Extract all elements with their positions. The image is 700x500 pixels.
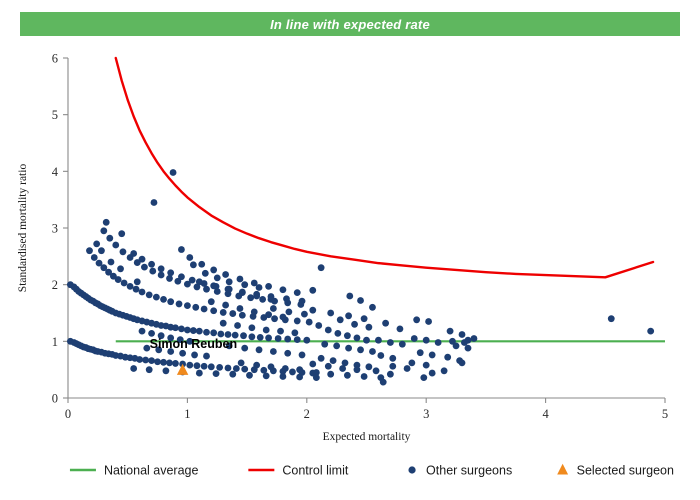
data-point-other-surgeon[interactable] <box>268 296 275 303</box>
data-point-other-surgeon[interactable] <box>210 307 217 314</box>
data-point-other-surgeon[interactable] <box>160 296 167 303</box>
data-point-other-surgeon[interactable] <box>257 334 264 341</box>
data-point-other-surgeon[interactable] <box>142 357 149 364</box>
data-point-other-surgeon[interactable] <box>334 330 341 337</box>
data-point-other-surgeon[interactable] <box>240 332 247 339</box>
data-point-other-surgeon[interactable] <box>420 374 427 381</box>
data-point-other-surgeon[interactable] <box>189 277 196 284</box>
data-point-other-surgeon[interactable] <box>148 330 155 337</box>
y-tick-label: 0 <box>52 392 58 406</box>
data-point-other-surgeon[interactable] <box>220 309 227 316</box>
data-point-other-surgeon[interactable] <box>239 289 246 296</box>
data-point-other-surgeon[interactable] <box>149 268 156 275</box>
data-point-other-surgeon[interactable] <box>321 341 328 348</box>
data-point-other-surgeon[interactable] <box>337 316 344 323</box>
legend-item-other-surgeons[interactable]: Other surgeons <box>408 464 512 478</box>
data-point-other-surgeon[interactable] <box>299 352 306 359</box>
data-point-other-surgeon[interactable] <box>284 350 291 357</box>
data-point-other-surgeon[interactable] <box>172 360 179 367</box>
data-point-other-surgeon[interactable] <box>441 367 448 374</box>
data-point-other-surgeon[interactable] <box>184 302 191 309</box>
data-point-other-surgeon[interactable] <box>225 365 232 372</box>
data-point-other-surgeon[interactable] <box>220 320 227 327</box>
data-point-other-surgeon[interactable] <box>253 293 260 300</box>
data-point-other-surgeon[interactable] <box>121 280 128 287</box>
data-point-other-surgeon[interactable] <box>153 294 160 301</box>
legend-item-control-limit[interactable]: Control limit <box>248 464 349 478</box>
y-tick-label: 2 <box>52 278 58 292</box>
data-point-other-surgeon[interactable] <box>375 337 382 344</box>
y-tick-label: 6 <box>52 52 58 66</box>
data-point-other-surgeon[interactable] <box>241 281 248 288</box>
data-point-other-surgeon[interactable] <box>134 278 141 285</box>
data-point-other-surgeon[interactable] <box>354 335 361 342</box>
data-point-other-surgeon[interactable] <box>282 365 289 372</box>
data-point-other-surgeon[interactable] <box>277 328 284 335</box>
data-point-other-surgeon[interactable] <box>471 335 478 342</box>
data-point-other-surgeon[interactable] <box>361 373 368 380</box>
data-point-other-surgeon[interactable] <box>120 248 127 255</box>
data-point-other-surgeon[interactable] <box>344 372 351 379</box>
data-point-other-surgeon[interactable] <box>299 298 306 305</box>
data-point-other-surgeon[interactable] <box>148 261 155 268</box>
data-point-other-surgeon[interactable] <box>184 327 191 334</box>
legend-item-selected-surgeon[interactable]: Selected surgeon <box>557 464 674 478</box>
data-point-other-surgeon[interactable] <box>313 374 320 381</box>
data-point-other-surgeon[interactable] <box>351 321 358 328</box>
data-point-other-surgeon[interactable] <box>158 265 165 272</box>
data-point-other-surgeon[interactable] <box>256 346 263 353</box>
data-point-other-surgeon[interactable] <box>327 371 334 378</box>
data-point-other-surgeon[interactable] <box>369 304 376 311</box>
legend-label-other-surgeons: Other surgeons <box>426 464 512 478</box>
data-point-other-surgeon[interactable] <box>309 361 316 368</box>
data-point-other-surgeon[interactable] <box>146 366 153 373</box>
data-point-other-surgeon[interactable] <box>133 286 140 293</box>
data-point-other-surgeon[interactable] <box>241 366 248 373</box>
data-point-other-surgeon[interactable] <box>186 362 193 369</box>
data-point-other-surgeon[interactable] <box>229 310 236 317</box>
legend-label-selected-surgeon: Selected surgeon <box>577 464 674 478</box>
data-point-other-surgeon[interactable] <box>100 227 107 234</box>
data-point-other-surgeon[interactable] <box>239 312 246 319</box>
data-point-other-surgeon[interactable] <box>417 349 424 356</box>
data-point-other-surgeon[interactable] <box>108 259 115 266</box>
data-point-other-surgeon[interactable] <box>306 319 313 326</box>
data-point-other-surgeon[interactable] <box>103 219 110 226</box>
data-point-other-surgeon[interactable] <box>365 324 372 331</box>
data-point-other-surgeon[interactable] <box>210 329 217 336</box>
data-point-other-surgeon[interactable] <box>136 356 143 363</box>
data-point-other-surgeon[interactable] <box>325 327 332 334</box>
data-point-other-surgeon[interactable] <box>411 335 418 342</box>
data-point-other-surgeon[interactable] <box>309 307 316 314</box>
data-point-other-surgeon[interactable] <box>141 264 148 271</box>
data-point-other-surgeon[interactable] <box>178 246 185 253</box>
data-point-other-surgeon[interactable] <box>399 341 406 348</box>
data-point-other-surgeon[interactable] <box>280 286 287 293</box>
y-axis-title: Standardised mortality ratio <box>17 164 29 293</box>
data-point-other-surgeon[interactable] <box>247 294 254 301</box>
data-point-other-surgeon[interactable] <box>241 345 248 352</box>
data-point-other-surgeon[interactable] <box>425 318 432 325</box>
data-point-other-surgeon[interactable] <box>191 352 198 359</box>
data-point-other-surgeon[interactable] <box>318 355 325 362</box>
data-point-other-surgeon[interactable] <box>214 274 221 281</box>
data-point-other-surgeon[interactable] <box>222 302 229 309</box>
data-point-other-surgeon[interactable] <box>268 363 275 370</box>
data-point-other-surgeon[interactable] <box>435 339 442 346</box>
data-point-other-surgeon[interactable] <box>237 276 244 283</box>
data-point-other-surgeon[interactable] <box>253 362 260 369</box>
data-point-other-surgeon[interactable] <box>380 379 387 386</box>
data-point-other-surgeon[interactable] <box>91 254 98 261</box>
data-point-other-surgeon[interactable] <box>296 366 303 373</box>
data-point-other-surgeon[interactable] <box>226 278 233 285</box>
legend-marker-triangle-selected-surgeon <box>557 464 568 475</box>
data-point-other-surgeon[interactable] <box>301 311 308 318</box>
data-point-other-surgeon[interactable] <box>127 283 134 290</box>
data-point-other-surgeon[interactable] <box>465 345 472 352</box>
data-point-other-surgeon[interactable] <box>389 363 396 370</box>
selected-surgeon-label: Simon Reuben <box>150 337 238 351</box>
data-point-other-surgeon[interactable] <box>238 359 245 366</box>
legend-label-control-limit: Control limit <box>282 464 349 478</box>
data-point-other-surgeon[interactable] <box>285 308 292 315</box>
data-point-other-surgeon[interactable] <box>373 367 380 374</box>
data-point-other-surgeon[interactable] <box>382 320 389 327</box>
data-point-other-surgeon[interactable] <box>176 301 183 308</box>
data-point-other-surgeon[interactable] <box>608 315 615 322</box>
data-point-other-surgeon[interactable] <box>294 289 301 296</box>
data-point-other-surgeon[interactable] <box>259 296 266 303</box>
data-point-other-surgeon[interactable] <box>309 287 316 294</box>
data-point-other-surgeon[interactable] <box>237 305 244 312</box>
data-point-other-surgeon[interactable] <box>284 336 291 343</box>
data-point-other-surgeon[interactable] <box>202 270 209 277</box>
data-point-other-surgeon[interactable] <box>203 329 210 336</box>
data-point-other-surgeon[interactable] <box>130 250 137 257</box>
data-point-other-surgeon[interactable] <box>423 337 430 344</box>
data-point-other-surgeon[interactable] <box>333 342 340 349</box>
data-point-other-surgeon[interactable] <box>315 322 322 329</box>
data-point-other-surgeon[interactable] <box>345 312 352 319</box>
data-point-other-surgeon[interactable] <box>387 339 394 346</box>
data-point-other-surgeon[interactable] <box>222 271 229 278</box>
data-point-other-surgeon[interactable] <box>93 240 100 247</box>
data-point-other-surgeon[interactable] <box>408 359 415 366</box>
data-point-other-surgeon[interactable] <box>167 269 174 276</box>
data-point-other-surgeon[interactable] <box>192 304 199 311</box>
data-point-other-surgeon[interactable] <box>263 327 270 334</box>
data-point-other-surgeon[interactable] <box>357 346 364 353</box>
data-point-other-surgeon[interactable] <box>248 324 255 331</box>
data-point-other-surgeon[interactable] <box>130 365 137 372</box>
data-point-other-surgeon[interactable] <box>265 311 272 318</box>
x-tick-label: 0 <box>65 407 71 421</box>
data-point-other-surgeon[interactable] <box>210 282 217 289</box>
data-point-other-surgeon[interactable] <box>158 272 165 279</box>
data-point-other-surgeon[interactable] <box>449 338 456 345</box>
data-point-other-surgeon[interactable] <box>201 363 208 370</box>
y-tick-label: 3 <box>52 222 58 236</box>
data-point-other-surgeon[interactable] <box>647 328 654 335</box>
data-point-other-surgeon[interactable] <box>178 273 185 280</box>
data-point-other-surgeon[interactable] <box>233 365 240 372</box>
data-point-other-surgeon[interactable] <box>361 315 368 322</box>
data-point-other-surgeon[interactable] <box>98 247 105 254</box>
data-point-other-surgeon[interactable] <box>429 370 436 377</box>
plot-area: 0123456012345Expected mortalityStandardi… <box>0 0 700 500</box>
data-point-other-surgeon[interactable] <box>167 298 174 305</box>
data-point-other-surgeon[interactable] <box>210 267 217 274</box>
data-point-other-surgeon[interactable] <box>248 333 255 340</box>
data-point-other-surgeon[interactable] <box>194 362 201 369</box>
data-point-other-surgeon[interactable] <box>139 256 146 263</box>
data-point-other-surgeon[interactable] <box>444 354 451 361</box>
data-point-other-surgeon[interactable] <box>345 345 352 352</box>
data-point-other-surgeon[interactable] <box>190 261 197 268</box>
data-point-other-surgeon[interactable] <box>270 305 277 312</box>
data-point-other-surgeon[interactable] <box>196 370 203 377</box>
data-point-other-surgeon[interactable] <box>115 276 122 283</box>
x-tick-label: 1 <box>184 407 190 421</box>
y-tick-label: 5 <box>52 108 58 122</box>
data-point-other-surgeon[interactable] <box>208 363 215 370</box>
data-point-other-surgeon[interactable] <box>459 359 466 366</box>
data-point-other-surgeon[interactable] <box>234 322 241 329</box>
data-point-other-surgeon[interactable] <box>291 329 298 336</box>
data-point-other-surgeon[interactable] <box>283 295 290 302</box>
data-point-other-surgeon[interactable] <box>208 298 215 305</box>
data-point-other-surgeon[interactable] <box>118 230 125 237</box>
data-point-other-surgeon[interactable] <box>216 364 223 371</box>
data-point-other-surgeon[interactable] <box>198 261 205 268</box>
data-point-other-surgeon[interactable] <box>170 169 177 176</box>
data-point-other-surgeon[interactable] <box>196 278 203 285</box>
data-point-other-surgeon[interactable] <box>166 359 173 366</box>
data-point-other-surgeon[interactable] <box>357 297 364 304</box>
x-tick-label: 5 <box>662 407 668 421</box>
data-point-other-surgeon[interactable] <box>369 348 376 355</box>
data-point-other-surgeon[interactable] <box>112 242 119 249</box>
data-point-other-surgeon[interactable] <box>354 366 361 373</box>
data-point-other-surgeon[interactable] <box>465 337 472 344</box>
data-point-other-surgeon[interactable] <box>404 365 411 372</box>
y-tick-label: 4 <box>52 165 59 179</box>
data-point-other-surgeon[interactable] <box>397 325 404 332</box>
data-point-other-surgeon[interactable] <box>271 315 278 322</box>
data-point-other-surgeon[interactable] <box>429 352 436 359</box>
legend-item-national-average[interactable]: National average <box>70 464 199 478</box>
data-point-other-surgeon[interactable] <box>139 289 146 296</box>
data-point-other-surgeon[interactable] <box>303 337 310 344</box>
data-point-other-surgeon[interactable] <box>196 328 203 335</box>
data-point-other-surgeon[interactable] <box>106 235 113 242</box>
data-point-other-surgeon[interactable] <box>294 336 301 343</box>
data-point-other-surgeon[interactable] <box>246 372 253 379</box>
data-point-other-surgeon[interactable] <box>387 371 394 378</box>
y-tick-label: 1 <box>52 335 58 349</box>
data-point-other-surgeon[interactable] <box>447 328 454 335</box>
data-point-other-surgeon[interactable] <box>459 331 466 338</box>
legend-marker-circle-other-surgeons <box>408 466 415 473</box>
data-point-other-surgeon[interactable] <box>296 374 303 381</box>
control-limit-curve <box>116 58 653 277</box>
data-point-other-surgeon[interactable] <box>327 310 334 317</box>
data-point-other-surgeon[interactable] <box>117 265 124 272</box>
data-point-other-surgeon[interactable] <box>344 332 351 339</box>
data-point-other-surgeon[interactable] <box>190 327 197 334</box>
data-point-other-surgeon[interactable] <box>318 264 325 271</box>
data-point-other-surgeon[interactable] <box>263 373 270 380</box>
data-point-other-surgeon[interactable] <box>423 362 430 369</box>
data-point-other-surgeon[interactable] <box>270 348 277 355</box>
data-point-other-surgeon[interactable] <box>203 353 210 360</box>
data-point-other-surgeon[interactable] <box>229 371 236 378</box>
data-point-other-surgeon[interactable] <box>346 293 353 300</box>
funnel-plot-chart: In line with expected rate 0123456012345… <box>0 0 700 500</box>
x-tick-label: 4 <box>542 407 549 421</box>
data-point-other-surgeon[interactable] <box>275 335 282 342</box>
data-point-other-surgeon[interactable] <box>201 306 208 313</box>
legend-label-national-average: National average <box>104 464 199 478</box>
data-point-other-surgeon[interactable] <box>265 283 272 290</box>
data-point-other-surgeon[interactable] <box>363 337 370 344</box>
data-point-other-surgeon[interactable] <box>330 357 337 364</box>
data-point-other-surgeon[interactable] <box>280 314 287 321</box>
data-point-other-surgeon[interactable] <box>146 291 153 298</box>
data-point-other-surgeon[interactable] <box>151 199 158 206</box>
data-point-other-surgeon[interactable] <box>213 370 220 377</box>
data-point-other-surgeon[interactable] <box>86 247 93 254</box>
data-point-other-surgeon[interactable] <box>178 325 185 332</box>
data-point-other-surgeon[interactable] <box>139 328 146 335</box>
data-point-other-surgeon[interactable] <box>225 286 232 293</box>
data-point-other-surgeon[interactable] <box>251 308 258 315</box>
data-point-other-surgeon[interactable] <box>365 363 372 370</box>
x-tick-label: 3 <box>423 407 429 421</box>
data-point-other-surgeon[interactable] <box>413 316 420 323</box>
data-point-other-surgeon[interactable] <box>339 365 346 372</box>
x-axis-title: Expected mortality <box>323 431 411 443</box>
data-point-other-surgeon[interactable] <box>154 358 161 365</box>
data-point-other-surgeon[interactable] <box>166 275 173 282</box>
data-point-other-surgeon[interactable] <box>389 355 396 362</box>
data-point-other-surgeon[interactable] <box>294 318 301 325</box>
data-point-other-surgeon[interactable] <box>289 369 296 376</box>
x-tick-label: 2 <box>304 407 310 421</box>
data-point-other-surgeon[interactable] <box>377 352 384 359</box>
data-point-other-surgeon[interactable] <box>325 363 332 370</box>
data-point-other-surgeon[interactable] <box>251 280 258 287</box>
data-point-other-surgeon[interactable] <box>280 373 287 380</box>
data-point-other-surgeon[interactable] <box>160 359 167 366</box>
data-point-other-surgeon[interactable] <box>265 335 272 342</box>
data-point-other-surgeon[interactable] <box>186 254 193 261</box>
data-point-other-surgeon[interactable] <box>163 367 170 374</box>
data-point-other-surgeon[interactable] <box>148 357 155 364</box>
data-point-other-surgeon[interactable] <box>172 324 179 331</box>
